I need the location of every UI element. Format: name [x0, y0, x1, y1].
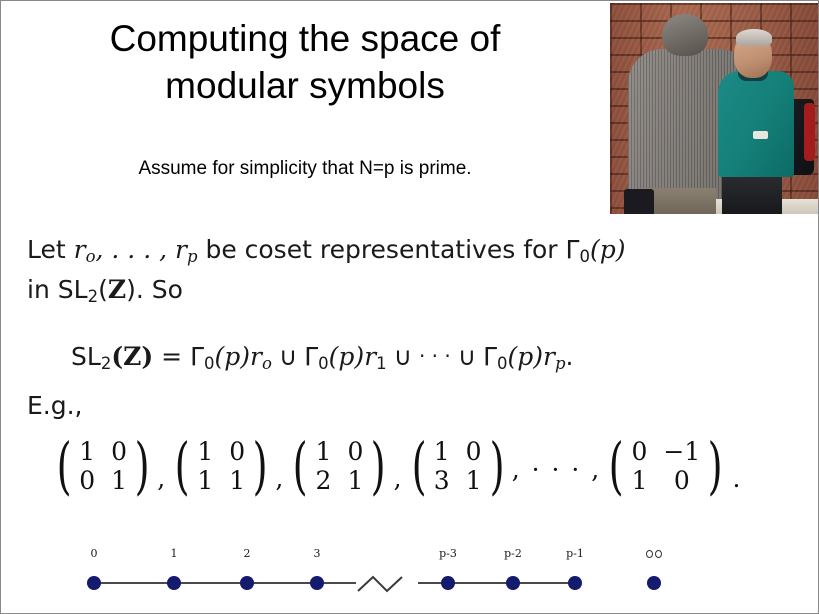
matrix-3-entries: 1 0 2 1: [313, 438, 367, 494]
matrix-4-r0c1: 0: [466, 438, 482, 465]
numline-label-0: 0: [91, 547, 98, 560]
matrix-right-paren: ): [253, 435, 268, 497]
matrix-2-r0c1: 0: [229, 438, 245, 465]
matrix-5-r0c0: 0: [631, 438, 647, 465]
math-equation-coset-decomposition: SL2(Z) = Γ0(p)ro∪Γ0(p)r1∪· · ·∪Γ0(p)rp.: [71, 342, 573, 373]
eq-gamma-1-subscript: 0: [204, 354, 215, 373]
eq-sl-subscript: 2: [101, 354, 112, 373]
eq-gamma-1-argument: (p): [215, 342, 251, 371]
matrix-2: ( 1 0 1 1 ): [170, 435, 272, 497]
symbol-r-last: r: [175, 235, 187, 264]
matrix-right-paren: ): [489, 435, 504, 497]
matrix-5-r0c1: −1: [663, 438, 700, 465]
matrix-5-r1c0: 1: [631, 467, 647, 494]
matrix-3: ( 1 0 2 1 ): [288, 435, 390, 497]
matrix-left-paren: (: [411, 435, 426, 497]
matrix-terminator: .: [728, 464, 740, 497]
numline-segment-left: [94, 582, 317, 584]
matrix-3-r1c0: 2: [316, 467, 332, 494]
gamma-argument-p: (p): [590, 235, 626, 264]
matrix-right-paren: ): [708, 435, 723, 497]
matrix-2-r0c0: 1: [197, 438, 213, 465]
eq-r-2: r: [364, 342, 376, 371]
eq-r-1: r: [250, 342, 262, 371]
backpack-red-strap: [804, 103, 815, 161]
numline-label-p-2: p-2: [504, 547, 522, 560]
right-man-hair: [736, 29, 772, 46]
matrix-separator-3: ,: [392, 464, 406, 497]
eq-union-1: ∪: [272, 342, 304, 371]
numline-dot-p-3: [441, 576, 455, 590]
symbol-integers-z: Z: [108, 275, 126, 304]
infinity-circle-left: [646, 550, 653, 558]
subscript-o: o: [86, 247, 96, 266]
math-line-coset-representatives: Let ro, . . . , rp be coset representati…: [27, 235, 625, 266]
photograph-two-men-brick-wall: [610, 3, 819, 214]
eq-gamma-1: Γ: [190, 342, 204, 371]
eq-r-1-subscript: o: [262, 354, 272, 373]
eq-sl-argument: (Z): [111, 342, 153, 371]
numline-label-2: 2: [244, 547, 251, 560]
matrix-3-r0c1: 0: [347, 438, 363, 465]
title-line-1: Computing the space of: [25, 15, 585, 62]
text-in: in: [27, 275, 58, 304]
presentation-slide: Computing the space of modular symbols A…: [0, 0, 819, 614]
matrix-1-r1c0: 0: [79, 467, 95, 494]
symbol-gamma: Γ: [566, 235, 580, 264]
eq-gamma-3-subscript: 0: [497, 354, 508, 373]
eq-gamma-2-argument: (p): [329, 342, 365, 371]
matrix-1-entries: 1 0 0 1: [76, 438, 130, 494]
paren-open: (: [98, 275, 108, 304]
subscript-p: p: [187, 247, 198, 266]
matrix-3-r0c0: 1: [316, 438, 332, 465]
matrix-4-r1c0: 3: [434, 467, 450, 494]
matrix-2-entries: 1 0 1 1: [194, 438, 248, 494]
eq-center-dots: · · ·: [419, 344, 451, 368]
matrix-4: ( 1 0 3 1 ): [407, 435, 509, 497]
matrix-5-r1c1: 0: [663, 467, 700, 494]
eq-gamma-2-subscript: 0: [318, 354, 329, 373]
matrix-1: ( 1 0 0 1 ): [52, 435, 154, 497]
paren-close: ): [126, 275, 136, 304]
eq-trailing-period: .: [566, 342, 574, 371]
math-line-in-sl2z-so: in SL2(Z). So: [27, 275, 183, 306]
numline-dot-2: [240, 576, 254, 590]
matrix-right-paren: ): [371, 435, 386, 497]
numline-label-infinity: [646, 550, 662, 558]
text-let: Let: [27, 235, 74, 264]
matrix-1-r0c1: 0: [111, 438, 127, 465]
numline-dot-0: [87, 576, 101, 590]
title-line-2: modular symbols: [25, 62, 585, 109]
matrix-left-paren: (: [293, 435, 308, 497]
matrix-5: ( 0 −1 1 0 ): [604, 435, 727, 497]
math-label-example: E.g.,: [27, 391, 83, 420]
matrix-2-r1c0: 1: [197, 467, 213, 494]
numline-dot-p-1: [568, 576, 582, 590]
symbol-r-first: r: [74, 235, 86, 264]
numline-label-1: 1: [171, 547, 178, 560]
page-title: Computing the space of modular symbols: [25, 15, 585, 109]
matrix-2-r1c1: 1: [229, 467, 245, 494]
numline-break-zigzag-icon: [356, 571, 418, 595]
text-ellipsis-r: , . . . ,: [96, 235, 175, 264]
matrix-1-r1c1: 1: [111, 467, 127, 494]
text-so: . So: [136, 275, 183, 304]
symbol-sl: SL: [58, 275, 88, 304]
matrix-separator-2: ,: [273, 464, 287, 497]
eq-sl: SL: [71, 342, 101, 371]
eq-union-2: ∪: [387, 342, 419, 371]
numline-dot-3: [310, 576, 324, 590]
matrix-left-paren: (: [57, 435, 72, 497]
eq-equals-sign: =: [153, 342, 190, 371]
numline-label-p-1: p-1: [566, 547, 584, 560]
matrix-left-paren: (: [609, 435, 624, 497]
matrix-5-entries: 0 −1 1 0: [628, 438, 703, 494]
numline-dot-1: [167, 576, 181, 590]
eq-r-3: r: [543, 342, 555, 371]
matrix-separator-1: ,: [155, 464, 169, 497]
text-be-coset-representatives-for: be coset representatives for: [198, 235, 566, 264]
right-man-polo-shirt: [718, 71, 794, 177]
eq-gamma-3-argument: (p): [508, 342, 544, 371]
numline-dot-infinity: [647, 576, 661, 590]
matrix-ellipsis: , · · · ,: [510, 455, 604, 484]
numline-label-p-3: p-3: [439, 547, 457, 560]
matrix-4-r1c1: 1: [466, 467, 482, 494]
matrix-1-r0c0: 1: [79, 438, 95, 465]
eq-union-3: ∪: [451, 342, 483, 371]
subscript-two: 2: [88, 287, 99, 306]
numline-dot-p-2: [506, 576, 520, 590]
matrix-left-paren: (: [175, 435, 190, 497]
coset-number-line-diagram: 0 1 2 3 p-3 p-2 p-1: [1, 541, 819, 611]
infinity-circle-right: [655, 550, 662, 558]
eq-r-3-subscript: p: [555, 354, 566, 373]
matrix-right-paren: ): [135, 435, 150, 497]
wristwatch: [753, 131, 768, 139]
matrix-4-r0c0: 1: [434, 438, 450, 465]
subscript-zero: 0: [579, 247, 590, 266]
eq-r-2-subscript: 1: [376, 354, 387, 373]
slide-subtitle: Assume for simplicity that N=p is prime.: [25, 158, 585, 180]
matrix-4-entries: 1 0 3 1: [431, 438, 485, 494]
matrix-list: ( 1 0 0 1 ) , ( 1 0 1 1 ) , ( 1: [51, 435, 740, 497]
matrix-3-r1c1: 1: [347, 467, 363, 494]
eq-gamma-2: Γ: [304, 342, 318, 371]
eq-gamma-3: Γ: [483, 342, 497, 371]
left-man-bag: [624, 189, 654, 214]
left-man-head: [662, 14, 708, 56]
numline-label-3: 3: [314, 547, 321, 560]
